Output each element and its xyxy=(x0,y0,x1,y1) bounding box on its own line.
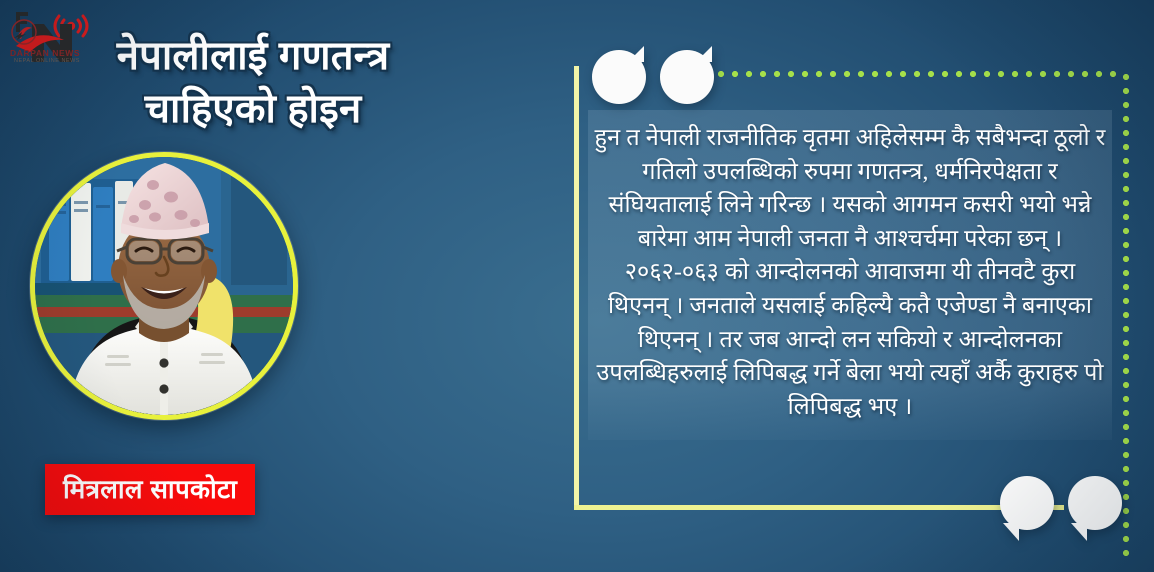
close-quote-icon-2 xyxy=(1068,476,1122,530)
frame-dotted-top xyxy=(700,70,1124,78)
quote-text-panel: हुन त नेपाली राजनीतिक वृतमा अहिलेसम्म कै… xyxy=(588,110,1112,440)
headline: नेपालीलाई गणतन्त्र चाहिएको होइन xyxy=(18,30,488,136)
portrait-frame xyxy=(30,152,298,420)
frame-bottom-rule xyxy=(574,505,1064,510)
person-photo-illustration xyxy=(35,157,293,415)
headline-line-1: नेपालीलाई गणतन्त्र xyxy=(18,30,488,83)
frame-dotted-right xyxy=(1122,70,1130,556)
quote-text: हुन त नेपाली राजनीतिक वृतमा अहिलेसम्म कै… xyxy=(594,122,1106,424)
close-quote-marks xyxy=(1000,476,1122,530)
close-quote-icon-1 xyxy=(1000,476,1054,530)
open-quote-icon-2 xyxy=(660,50,714,104)
headline-line-2: चाहिएको होइन xyxy=(18,83,488,136)
portrait-photo xyxy=(35,157,293,415)
open-quote-icon-1 xyxy=(592,50,646,104)
open-quote-marks xyxy=(592,50,714,104)
speaker-nameplate: मित्रलाल सापकोटा xyxy=(45,464,255,515)
quote-block: हुन त नेपाली राजनीतिक वृतमा अहिलेसम्म कै… xyxy=(574,66,1130,510)
news-quote-card: DARPAN NEWS NEPAL ONLINE NEWS नेपालीलाई … xyxy=(0,0,1154,572)
frame-left-rule xyxy=(574,66,579,506)
